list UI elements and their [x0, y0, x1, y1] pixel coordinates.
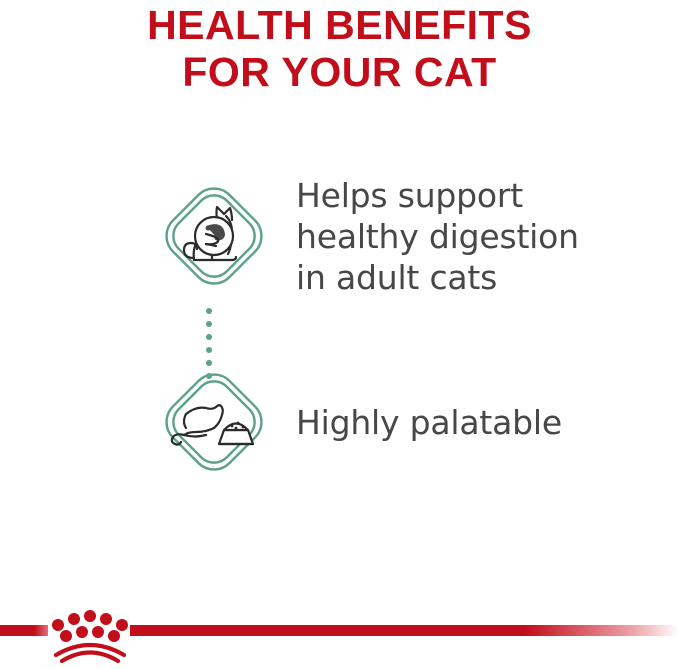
benefit-text-line: Helps support	[296, 175, 579, 216]
benefit-item: Highly palatable	[150, 358, 670, 486]
benefit-text-line: Highly palatable	[296, 402, 562, 443]
cat-eating-bowl-icon	[150, 358, 278, 486]
page-title: HEALTH BENEFITS FOR YOUR CAT	[0, 2, 679, 96]
footer-logo-band	[0, 603, 679, 665]
benefit-text-line: in adult cats	[296, 257, 579, 298]
benefit-text-line: healthy digestion	[296, 216, 579, 257]
benefit-text: Helps support healthy digestion in adult…	[296, 175, 579, 298]
page-title-line-1: HEALTH BENEFITS	[0, 2, 679, 49]
benefit-text: Highly palatable	[296, 402, 562, 443]
red-band-divider	[130, 625, 679, 636]
cat-digestion-icon	[150, 172, 278, 300]
page-title-line-2: FOR YOUR CAT	[0, 49, 679, 96]
red-band-divider	[0, 625, 48, 636]
royal-canin-crown-icon	[50, 603, 130, 665]
benefit-item: Helps support healthy digestion in adult…	[150, 172, 670, 300]
